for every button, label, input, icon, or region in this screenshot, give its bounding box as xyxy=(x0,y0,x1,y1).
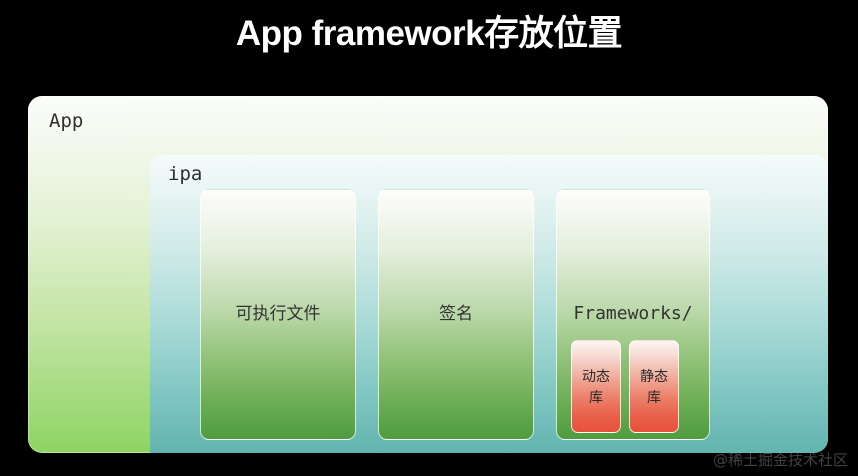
dynamic-library-label-line2: 库 xyxy=(572,388,620,409)
static-library-label-line2: 库 xyxy=(630,388,678,409)
dynamic-library-box: 动态 库 xyxy=(571,340,621,433)
slide-canvas: App framework存放位置 App ipa 可执行文件 签名 Frame… xyxy=(0,0,858,476)
static-library-label-line1: 静态 xyxy=(630,367,678,388)
static-library-box: 静态 库 xyxy=(629,340,679,433)
dynamic-library-label-line1: 动态 xyxy=(572,367,620,388)
app-container-label: App xyxy=(49,109,83,133)
page-title: App framework存放位置 xyxy=(0,11,858,57)
signature-box: 签名 xyxy=(378,189,534,440)
ipa-container-label: ipa xyxy=(168,162,202,186)
ipa-container-box: ipa 可执行文件 签名 Frameworks/ 动态 库 静态 xyxy=(150,155,828,453)
watermark-text: @稀土掘金技术社区 xyxy=(713,450,848,470)
executable-box: 可执行文件 xyxy=(200,189,356,440)
signature-label: 签名 xyxy=(379,302,533,326)
frameworks-box: Frameworks/ 动态 库 静态 库 xyxy=(556,189,710,440)
frameworks-label: Frameworks/ xyxy=(557,302,709,326)
executable-label: 可执行文件 xyxy=(201,302,355,326)
static-library-label: 静态 库 xyxy=(630,367,678,409)
dynamic-library-label: 动态 库 xyxy=(572,367,620,409)
app-container-box: App ipa 可执行文件 签名 Frameworks/ 动态 库 xyxy=(28,96,828,453)
